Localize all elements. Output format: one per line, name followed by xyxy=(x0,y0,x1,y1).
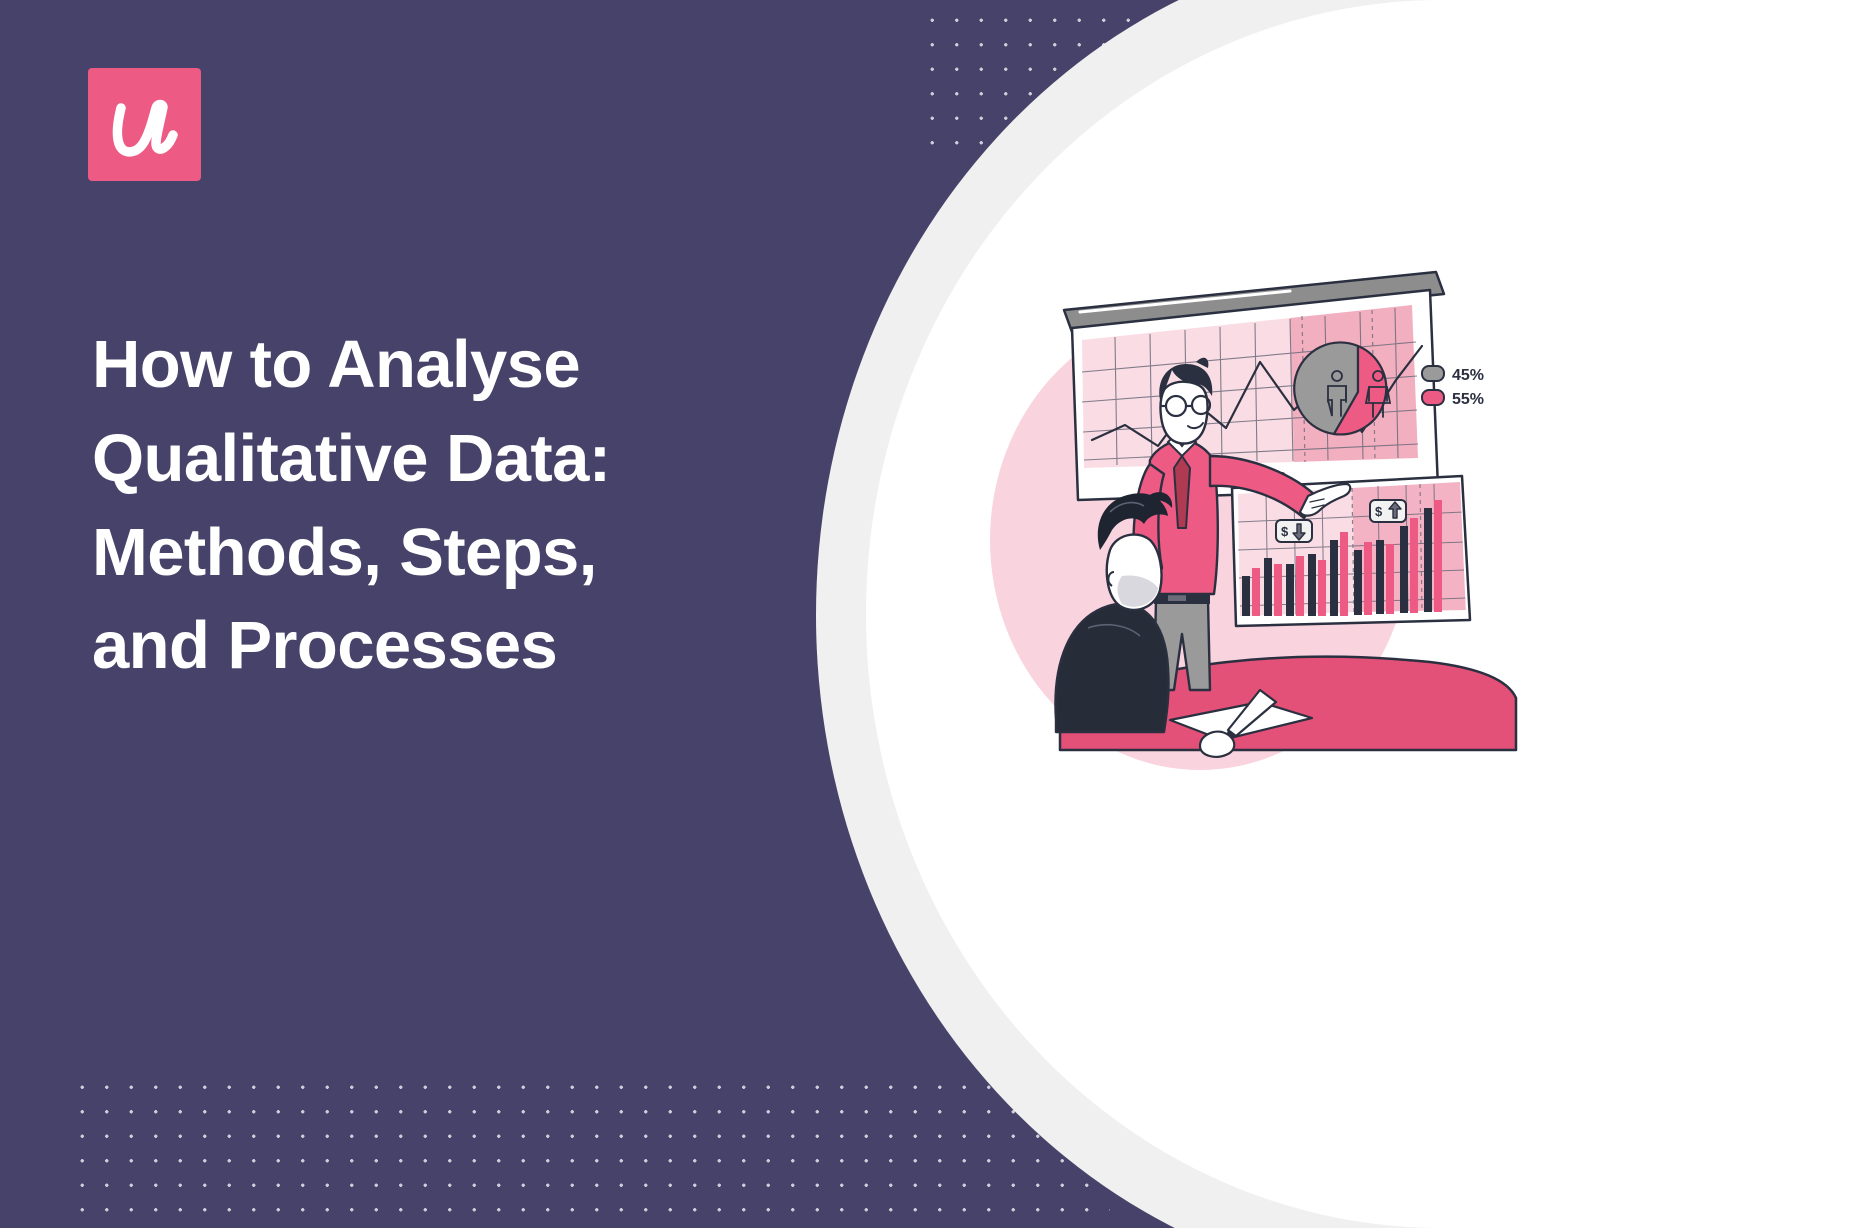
dollar-down-badge: $ xyxy=(1276,520,1312,542)
holding-hand-icon xyxy=(1200,732,1234,757)
page-title-line-2: Qualitative Data: xyxy=(92,412,832,506)
userpilot-u-logo[interactable]: u xyxy=(88,68,201,181)
business-presentation-illustration: 45% 55% Q3 xyxy=(960,250,1520,780)
dot-grid-bottom-left xyxy=(70,1075,1110,1228)
page-title-line-4: and Processes xyxy=(92,599,832,693)
dollar-sign-up: $ xyxy=(1375,504,1383,519)
pie-legend-label-b: 55% xyxy=(1452,391,1484,408)
page-title-line-1: How to Analyse xyxy=(92,318,832,412)
pie-legend-label-a: 45% xyxy=(1452,367,1484,384)
poster-canvas: u How to Analyse Qualitative Data: Metho… xyxy=(0,0,1876,1228)
dollar-up-badge: $ xyxy=(1370,500,1406,522)
quarterly-bar-chart: $ $ xyxy=(1232,476,1470,626)
page-title: How to Analyse Qualitative Data: Methods… xyxy=(92,318,832,693)
dollar-sign-down: $ xyxy=(1281,524,1289,539)
page-title-line-3: Methods, Steps, xyxy=(92,506,832,600)
